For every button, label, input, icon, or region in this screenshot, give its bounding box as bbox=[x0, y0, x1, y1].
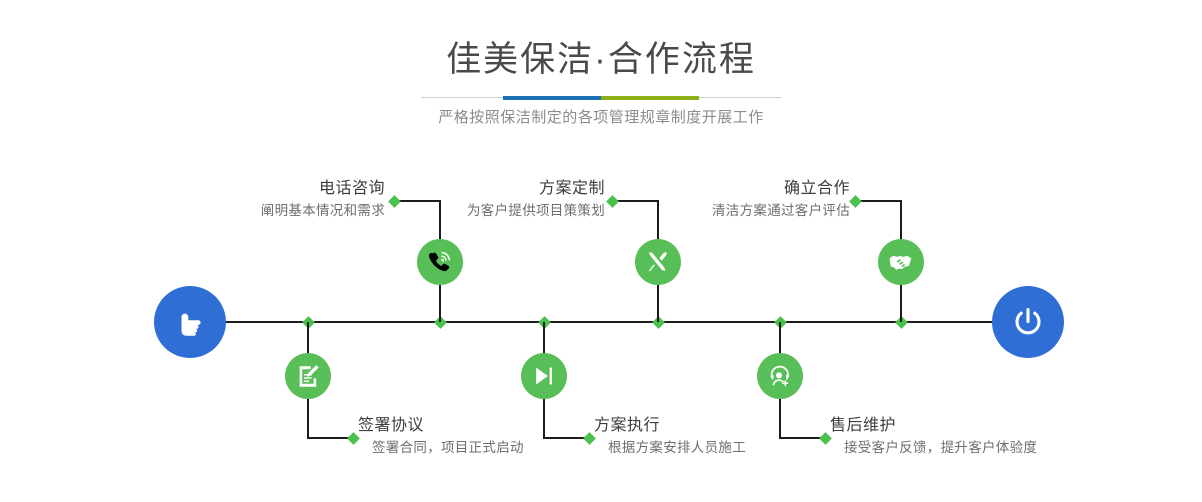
title-divider bbox=[421, 96, 781, 100]
step-desc-6: 接受客户反馈，提升客户体验度 bbox=[844, 437, 1160, 459]
step-title-5: 确立合作 bbox=[575, 178, 850, 200]
flow-start-node[interactable] bbox=[154, 286, 226, 358]
node-icon-step-4[interactable] bbox=[521, 353, 567, 399]
step-desc-5: 清洁方案通过客户评估 bbox=[575, 200, 850, 222]
headset-support-icon bbox=[767, 363, 793, 389]
power-icon bbox=[1009, 303, 1047, 341]
step-label-5: 确立合作 清洁方案通过客户评估 bbox=[575, 178, 850, 222]
header: 佳美保洁·合作流程 严格按照保洁制定的各项管理规章制度开展工作 bbox=[0, 0, 1202, 145]
document-edit-icon bbox=[295, 363, 321, 389]
node-icon-step-1[interactable] bbox=[417, 239, 463, 285]
node-icon-step-6[interactable] bbox=[757, 353, 803, 399]
pointing-hand-icon bbox=[172, 304, 208, 340]
node-icon-step-3[interactable] bbox=[635, 239, 681, 285]
page-title: 佳美保洁·合作流程 bbox=[0, 38, 1202, 82]
timeline-spine bbox=[158, 321, 1044, 323]
step-title-3: 方案定制 bbox=[330, 178, 605, 200]
step-label-3: 方案定制 为客户提供项目策策划 bbox=[330, 178, 605, 222]
node-icon-step-2[interactable] bbox=[285, 353, 331, 399]
page-subtitle: 严格按照保洁制定的各项管理规章制度开展工作 bbox=[0, 106, 1202, 130]
play-execute-icon bbox=[531, 363, 557, 389]
handshake-icon bbox=[888, 249, 914, 275]
divider-segment-green bbox=[601, 96, 699, 100]
phone-call-icon bbox=[427, 249, 453, 275]
step-desc-3: 为客户提供项目策策划 bbox=[330, 200, 605, 222]
label-marker-step-5 bbox=[849, 195, 862, 208]
flow-diagram: 电话咨询 阐明基本情况和需求 签署协议 签署合同，项目正式启动 bbox=[0, 145, 1202, 502]
node-icon-step-5[interactable] bbox=[878, 239, 924, 285]
pencil-design-icon bbox=[645, 249, 671, 275]
divider-segment-blue bbox=[503, 96, 601, 100]
step-label-6: 售后维护 接受客户反馈，提升客户体验度 bbox=[830, 415, 1160, 459]
step-title-6: 售后维护 bbox=[830, 415, 1160, 437]
flow-end-node[interactable] bbox=[992, 286, 1064, 358]
process-flow-infographic: 佳美保洁·合作流程 严格按照保洁制定的各项管理规章制度开展工作 bbox=[0, 0, 1202, 502]
